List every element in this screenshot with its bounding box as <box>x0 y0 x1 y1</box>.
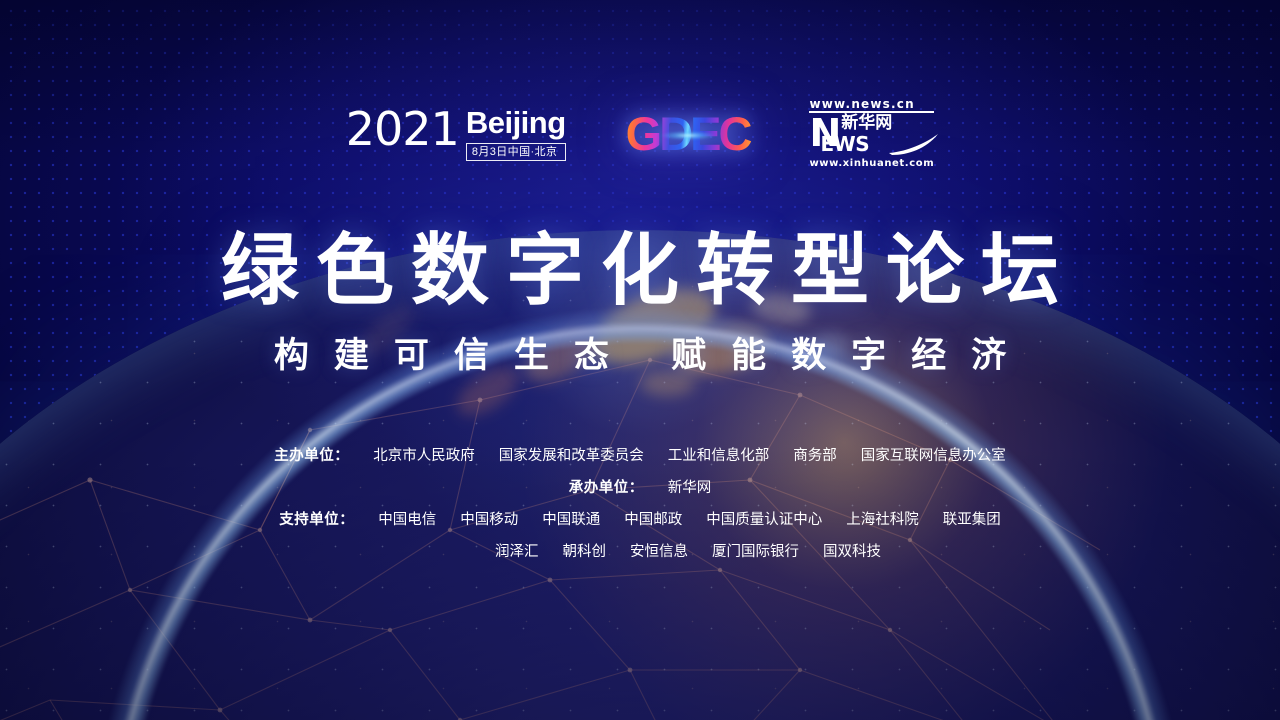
credits-block: 主办单位： 北京市人民政府 国家发展和改革委员会 工业和信息化部 商务部 国家互… <box>0 444 1280 572</box>
credit-row-host: 主办单位： 北京市人民政府 国家发展和改革委员会 工业和信息化部 商务部 国家互… <box>274 444 1006 465</box>
host-org: 国家发展和改革委员会 <box>499 444 644 465</box>
beijing-2021-logo: 2021 Beijing 8月3日中国·北京 <box>346 106 566 162</box>
supporter-org: 中国电信 <box>378 508 436 529</box>
xinhua-bottom-url: www.xinhuanet.com <box>809 159 934 169</box>
host-org: 国家互联网信息办公室 <box>861 444 1006 465</box>
supporter-org: 中国联通 <box>542 508 600 529</box>
supporter-orgs-row2: 润泽汇 朝科创 安恒信息 厦门国际银行 国双科技 <box>495 540 881 561</box>
organizer-org: 新华网 <box>668 476 712 497</box>
supporter-org: 中国质量认证中心 <box>706 508 822 529</box>
supporter-org: 厦门国际银行 <box>712 540 799 561</box>
host-org: 北京市人民政府 <box>373 444 475 465</box>
supporter-org: 国双科技 <box>823 540 881 561</box>
supporter-org: 联亚集团 <box>943 508 1001 529</box>
poster-stage: 2021 Beijing 8月3日中国·北京 GDEC www.news.cn … <box>0 0 1280 720</box>
logo-row: 2021 Beijing 8月3日中国·北京 GDEC www.news.cn … <box>0 98 1280 169</box>
supporter-org: 润泽汇 <box>495 540 539 561</box>
supporter-org: 上海社科院 <box>846 508 919 529</box>
host-org: 商务部 <box>793 444 837 465</box>
supporter-org: 中国移动 <box>460 508 518 529</box>
host-orgs: 北京市人民政府 国家发展和改革委员会 工业和信息化部 商务部 国家互联网信息办公… <box>349 444 1006 465</box>
credit-row-supporters-2: 润泽汇 朝科创 安恒信息 厦门国际银行 国双科技 <box>399 540 881 561</box>
gdec-logo-text: GDEC <box>626 107 750 160</box>
forum-subtitle: 构建可信生态 赋能数字经济 <box>0 339 1280 374</box>
xinhua-cn-name: 新华网 <box>841 114 892 132</box>
gdec-logo: GDEC <box>622 108 754 159</box>
supporters-label: 支持单位： <box>279 508 354 529</box>
credit-row-organizer: 承办单位： 新华网 <box>569 476 712 497</box>
xinhua-swoosh-icon <box>888 133 940 155</box>
beijing-logo-year: 2021 <box>346 106 459 152</box>
host-org: 工业和信息化部 <box>668 444 770 465</box>
beijing-logo-date: 8月3日中国·北京 <box>466 143 566 162</box>
supporter-org: 朝科创 <box>563 540 607 561</box>
beijing-logo-city: Beijing <box>466 107 566 138</box>
supporter-orgs-row1: 中国电信 中国移动 中国联通 中国邮政 中国质量认证中心 上海社科院 联亚集团 <box>354 508 1001 529</box>
supporter-org: 中国邮政 <box>624 508 682 529</box>
credit-row-supporters: 支持单位： 中国电信 中国移动 中国联通 中国邮政 中国质量认证中心 上海社科院… <box>279 508 1001 529</box>
organizer-orgs: 新华网 <box>644 476 712 497</box>
host-label: 主办单位： <box>274 444 349 465</box>
xinhua-news-logo: www.news.cn N 新华网 EWS www.xinhuanet.com <box>809 98 934 169</box>
xinhua-ews-text: EWS <box>820 134 869 154</box>
supporter-org: 安恒信息 <box>630 540 688 561</box>
organizer-label: 承办单位： <box>569 476 644 497</box>
forum-main-title: 绿色数字化转型论坛 <box>0 232 1280 310</box>
